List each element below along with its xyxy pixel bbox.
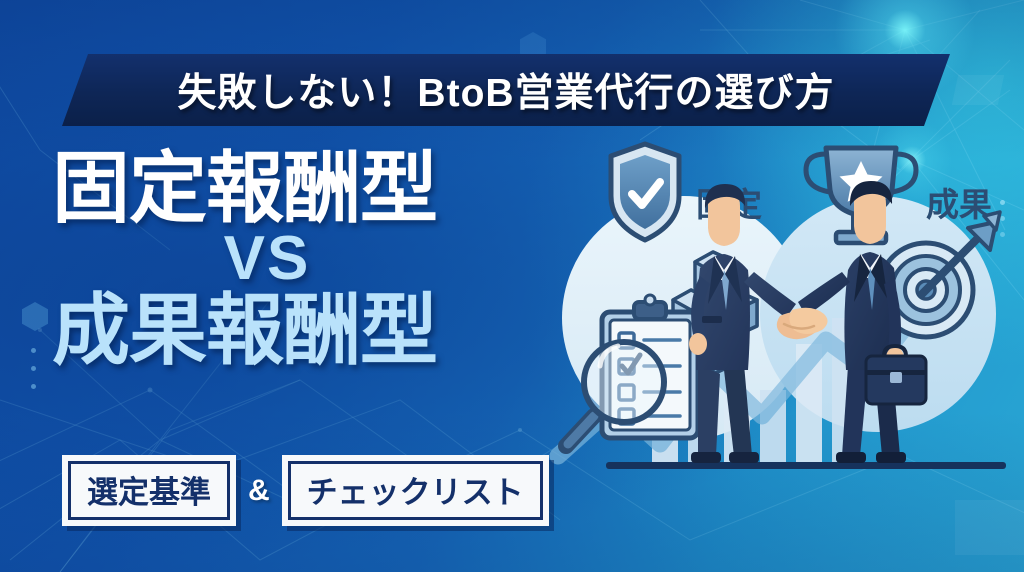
- poster-canvas: 固定: [0, 0, 1024, 572]
- dot-decoration: [31, 384, 36, 389]
- headline-block: 固定報酬型 VS 成果報酬型: [52, 150, 572, 369]
- badge-selection-criteria[interactable]: 選定基準: [62, 455, 236, 526]
- headline-vs: VS: [52, 228, 482, 290]
- badge-selection-criteria-frame: 選定基準: [68, 461, 230, 520]
- business-illustration: 固定: [548, 104, 1024, 572]
- header-banner: 失敗しない！BtoB営業代行の選び方: [62, 54, 950, 126]
- headline-fixed-fee: 固定報酬型: [52, 150, 572, 226]
- badge-checklist-frame: チェックリスト: [288, 461, 543, 520]
- soft-square-decoration: [952, 75, 1004, 105]
- shield-check-icon: [611, 144, 679, 240]
- badge-row: 選定基準 & チェックリスト: [62, 455, 549, 526]
- headline-performance-fee: 成果報酬型: [52, 292, 572, 368]
- dot-decoration: [31, 348, 36, 353]
- badge-checklist-label: チェックリスト: [307, 467, 524, 512]
- badge-checklist[interactable]: チェックリスト: [282, 455, 549, 526]
- badge-selection-criteria-label: 選定基準: [87, 467, 211, 512]
- result-label: 成果: [926, 186, 992, 223]
- floor-line: [606, 462, 1006, 469]
- header-banner-text: 失敗しない！BtoB営業代行の選び方: [177, 62, 834, 118]
- badge-separator: &: [248, 474, 270, 508]
- briefcase-icon: [866, 346, 926, 404]
- dot-decoration: [31, 366, 36, 371]
